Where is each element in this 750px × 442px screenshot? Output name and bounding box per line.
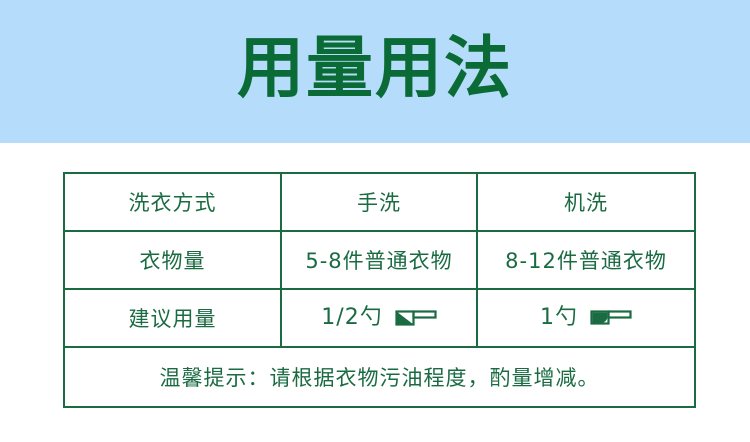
dose-value-machine: 1勺 — [540, 307, 578, 329]
dose-value-hand: 1/2勺 — [321, 307, 382, 329]
table-row-recommended-dose: 建议用量 1/2勺 — [64, 289, 695, 347]
header-band: 用量用法 — [0, 0, 750, 143]
table-row-load-amount: 衣物量 5-8件普通衣物 8-12件普通衣物 — [64, 231, 695, 289]
table-row-note: 温馨提示：请根据衣物污油程度，酌量增减。 — [64, 347, 695, 407]
cell-note: 温馨提示：请根据衣物污油程度，酌量增减。 — [64, 347, 695, 407]
usage-table: 洗衣方式 手洗 机洗 衣物量 5-8件普通衣物 8-12件普通衣物 建议用量 1… — [63, 172, 696, 408]
table-row-wash-method: 洗衣方式 手洗 机洗 — [64, 173, 695, 231]
cell-machine-wash-header: 机洗 — [477, 173, 695, 231]
cell-load-amount-label: 衣物量 — [64, 231, 281, 289]
half-spoon-icon — [395, 306, 437, 330]
full-spoon-icon — [590, 306, 632, 330]
page-title: 用量用法 — [237, 35, 513, 108]
cell-hand-wash-header: 手洗 — [281, 173, 477, 231]
cell-load-amount-hand: 5-8件普通衣物 — [281, 231, 477, 289]
cell-recommended-dose-hand: 1/2勺 — [281, 289, 477, 347]
cell-wash-method-label: 洗衣方式 — [64, 173, 281, 231]
cell-recommended-dose-label: 建议用量 — [64, 289, 281, 347]
cell-load-amount-machine: 8-12件普通衣物 — [477, 231, 695, 289]
cell-recommended-dose-machine: 1勺 — [477, 289, 695, 347]
